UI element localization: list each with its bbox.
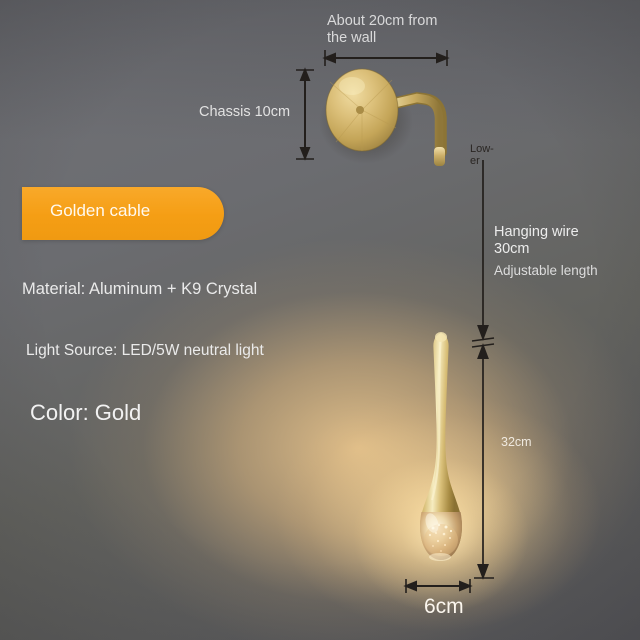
label-pendant-width: 6cm bbox=[424, 595, 464, 619]
dimension-chassis bbox=[296, 70, 314, 159]
dimension-wall-distance bbox=[325, 50, 447, 66]
label-chassis: Chassis 10cm bbox=[199, 104, 290, 120]
dimension-lower-arrow bbox=[479, 160, 488, 338]
dimension-overlay bbox=[0, 0, 640, 640]
spec-color: Color: Gold bbox=[30, 400, 141, 426]
golden-cable-badge: Golden cable bbox=[22, 187, 224, 240]
spec-material: Material: Aluminum + K9 Crystal bbox=[22, 280, 257, 299]
golden-cable-badge-label: Golden cable bbox=[50, 201, 150, 221]
product-image-canvas: About 20cm from the wall Chassis 10cm Lo… bbox=[0, 0, 640, 640]
label-adjustable-length: Adjustable length bbox=[494, 263, 598, 278]
label-lower: Low- er bbox=[470, 144, 504, 167]
dimension-pendant-length bbox=[474, 346, 494, 578]
label-hanging-wire: Hanging wire 30cm bbox=[494, 224, 624, 257]
spec-light-source: Light Source: LED/5W neutral light bbox=[26, 342, 264, 360]
label-wall-distance: About 20cm from the wall bbox=[327, 13, 467, 47]
dimension-pendant-width bbox=[406, 579, 470, 593]
label-pendant-length: 32cm bbox=[501, 435, 532, 449]
